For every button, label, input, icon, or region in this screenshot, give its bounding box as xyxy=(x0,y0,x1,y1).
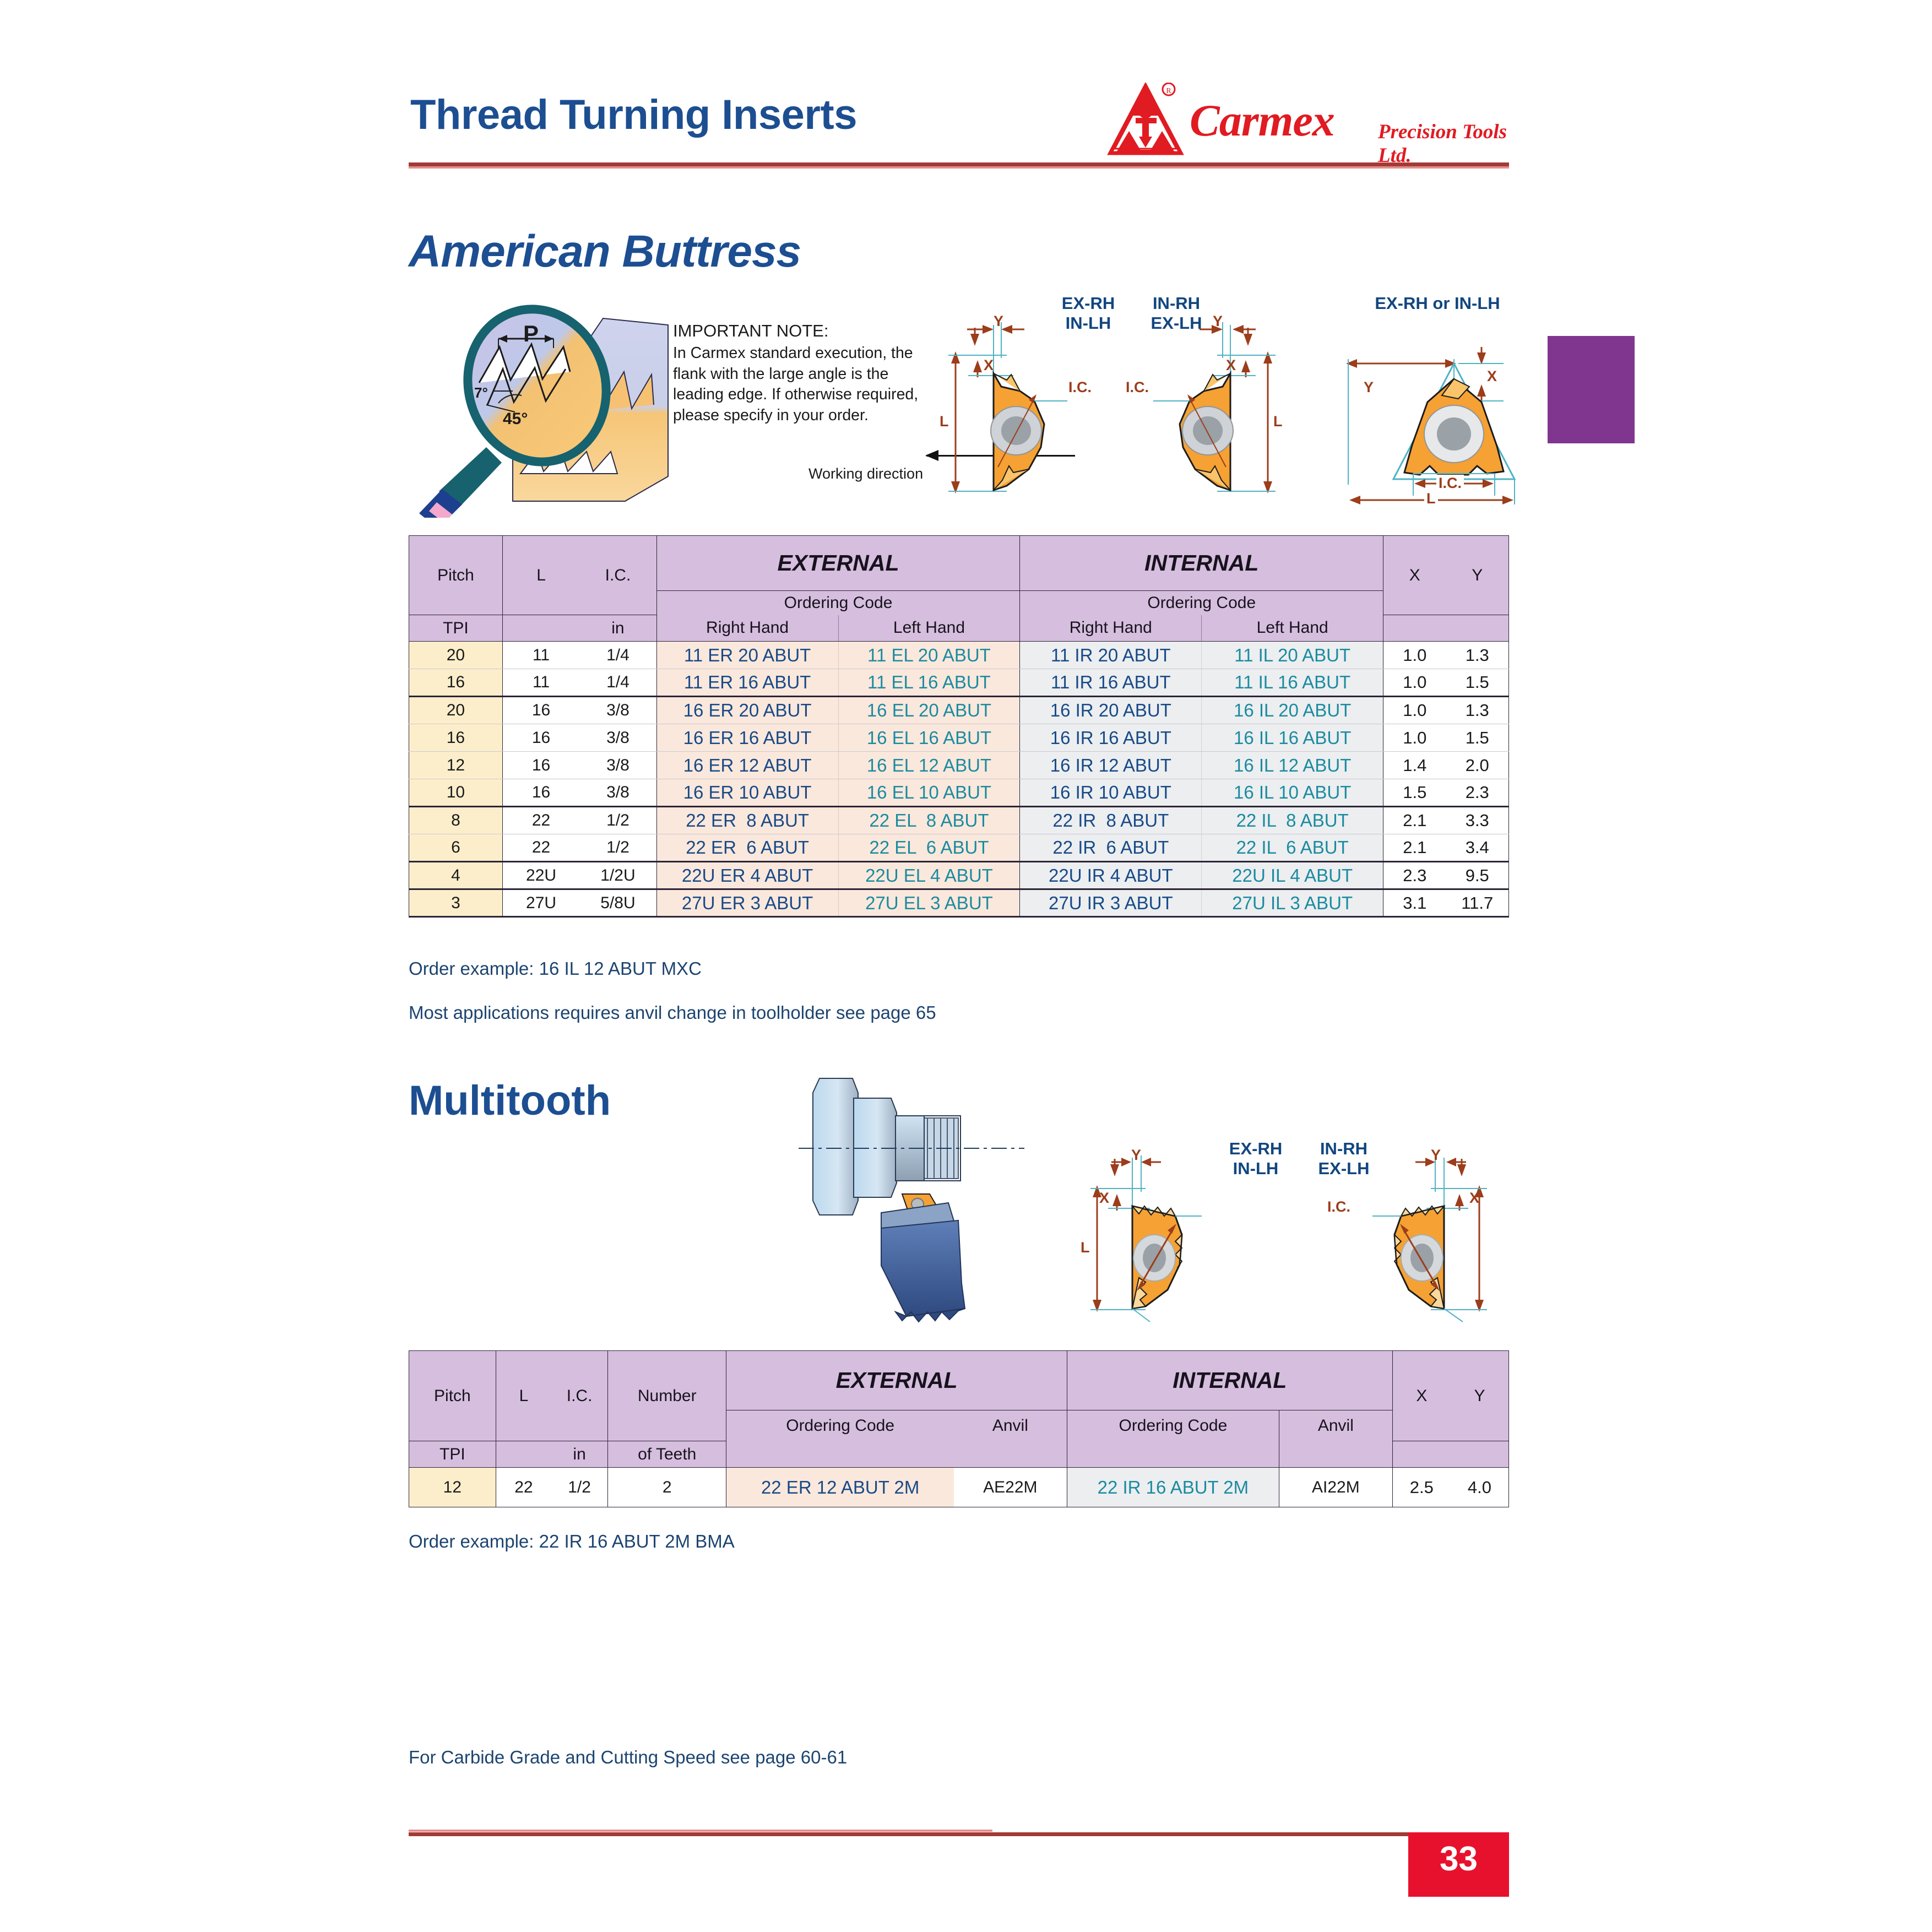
col-x-sub xyxy=(1383,615,1446,642)
dim-l-label: L xyxy=(1081,1239,1090,1256)
mt-col-l: L xyxy=(496,1351,551,1441)
cell-l: 22 xyxy=(496,1468,551,1507)
american-buttress-table: Pitch L I.C. EXTERNAL INTERNAL X xyxy=(409,535,1509,918)
multitooth-table: Pitch L I.C. Number EXTERNAL INTERNAL xyxy=(409,1350,1509,1507)
diagram-3-caption: EX-RH or IN-LH xyxy=(1349,294,1526,313)
carmex-logo: R Carmex Precision Tools Ltd. xyxy=(1107,83,1509,160)
cell-internal-left-hand: 27U IL 3 ABUT xyxy=(1202,889,1383,917)
cell-y: 3.3 xyxy=(1446,807,1509,834)
table-row: 16111/411 ER 16 ABUT11 EL 16 ABUT11 IR 1… xyxy=(409,669,1509,697)
mt-col-y: Y xyxy=(1451,1351,1509,1441)
cell-external-left-hand: 22 EL 8 ABUT xyxy=(838,807,1020,834)
dim-y-label: Y xyxy=(994,313,1003,330)
dim-l-label: L xyxy=(940,413,949,430)
dim-ic-label: I.C. xyxy=(1327,1198,1350,1215)
cell-pitch: 10 xyxy=(409,779,503,807)
cell-internal-right-hand: 22 IR 8 ABUT xyxy=(1020,807,1202,834)
mt-group-header-internal: INTERNAL xyxy=(1067,1351,1392,1410)
mt-col-pitch-tpi: Pitch xyxy=(409,1351,496,1441)
col-pitch-tpi: Pitch xyxy=(409,536,503,615)
table-row: 10163/816 ER 10 ABUT16 EL 10 ABUT16 IR 1… xyxy=(409,779,1509,807)
insert-diagram-in-rh-ex-lh: Y X L I.C. xyxy=(1118,308,1289,512)
mt-col-x-sub xyxy=(1392,1441,1451,1468)
mt-col-ext-code: Ordering Code xyxy=(726,1410,954,1441)
dim-ic-label: I.C. xyxy=(1068,379,1092,396)
cell-internal-left-hand: 16 IL 10 ABUT xyxy=(1202,779,1383,807)
dim-x-label: X xyxy=(1469,1190,1479,1207)
dim-x-label: X xyxy=(1099,1190,1109,1207)
cell-external-right-hand: 22 ER 6 ABUT xyxy=(656,834,838,862)
mt-col-l-sub xyxy=(496,1441,551,1468)
cell-pitch: 20 xyxy=(409,697,503,724)
cell-l: 16 xyxy=(502,724,579,752)
diagram-2-caption: IN-RH EX-LH xyxy=(1127,294,1226,333)
cell-y: 11.7 xyxy=(1446,889,1509,917)
cell-y: 1.3 xyxy=(1446,642,1509,669)
cell-external-left-hand: 22U EL 4 ABUT xyxy=(838,862,1020,889)
table-row: 20163/816 ER 20 ABUT16 EL 20 ABUT16 IR 2… xyxy=(409,697,1509,724)
table-row: 327U5/8U27U ER 3 ABUT27U EL 3 ABUT27U IR… xyxy=(409,889,1509,917)
cell-ic: 1/2 xyxy=(579,834,656,862)
cell-l: 22 xyxy=(502,834,579,862)
dim-ic-label: I.C. xyxy=(1126,379,1149,396)
mt-int-code-sub xyxy=(1067,1441,1279,1468)
col-ext-left-hand: Left Hand xyxy=(838,615,1020,642)
cell-external-left-hand: 11 EL 20 ABUT xyxy=(838,642,1020,669)
dim-x-label: X xyxy=(984,357,994,374)
table-row: 6221/222 ER 6 ABUT22 EL 6 ABUT22 IR 6 AB… xyxy=(409,834,1509,862)
cell-internal-anvil: AI22M xyxy=(1279,1468,1392,1507)
dim-y-label: Y xyxy=(1364,379,1374,396)
cell-pitch: 6 xyxy=(409,834,503,862)
cell-internal-right-hand: 11 IR 16 ABUT xyxy=(1020,669,1202,697)
svg-text:R: R xyxy=(1166,87,1171,95)
cell-x: 1.0 xyxy=(1383,642,1446,669)
cell-external-right-hand: 11 ER 16 ABUT xyxy=(656,669,838,697)
cell-x: 2.5 xyxy=(1392,1468,1451,1507)
section-color-tab xyxy=(1548,336,1635,443)
mt-col-ext-anvil: Anvil xyxy=(954,1410,1067,1441)
cell-external-right-hand: 22 ER 8 ABUT xyxy=(656,807,838,834)
cell-y: 1.5 xyxy=(1446,724,1509,752)
col-ext-right-hand: Right Hand xyxy=(656,615,838,642)
col-l: L xyxy=(502,536,579,615)
table-row: 20111/411 ER 20 ABUT11 EL 20 ABUT11 IR 2… xyxy=(409,642,1509,669)
cell-internal-left-hand: 22 IL 6 ABUT xyxy=(1202,834,1383,862)
cell-y: 2.0 xyxy=(1446,752,1509,779)
mt-col-ic-sub: in xyxy=(551,1441,607,1468)
cell-internal-left-hand: 16 IL 20 ABUT xyxy=(1202,697,1383,724)
mt-col-int-anvil: Anvil xyxy=(1279,1410,1392,1441)
cell-l: 16 xyxy=(502,752,579,779)
cell-internal-right-hand: 16 IR 12 ABUT xyxy=(1020,752,1202,779)
logo-wordmark: Carmex xyxy=(1190,95,1334,146)
table-row: 12221/2222 ER 12 ABUT 2MAE22M22 IR 16 AB… xyxy=(409,1468,1509,1507)
cell-external-left-hand: 16 EL 16 ABUT xyxy=(838,724,1020,752)
col-int-left-hand: Left Hand xyxy=(1202,615,1383,642)
insert-diagram-ex-rh-or-in-lh: Y X I.C. L xyxy=(1322,308,1526,512)
dim-ic-label: I.C. xyxy=(1436,475,1464,492)
cell-ic: 1/4 xyxy=(579,669,656,697)
cell-external-anvil: AE22M xyxy=(954,1468,1067,1507)
cell-external-right-hand: 11 ER 20 ABUT xyxy=(656,642,838,669)
header-rule-dark xyxy=(409,162,1509,166)
dim-y-label: Y xyxy=(1431,1147,1441,1164)
header-rule-light xyxy=(409,166,1509,169)
cell-internal-right-hand: 16 IR 10 ABUT xyxy=(1020,779,1202,807)
cell-internal-right-hand: 27U IR 3 ABUT xyxy=(1020,889,1202,917)
page-title: Thread Turning Inserts xyxy=(410,91,857,139)
cell-pitch: 8 xyxy=(409,807,503,834)
cell-internal-right-hand: 11 IR 20 ABUT xyxy=(1020,642,1202,669)
cell-x: 1.0 xyxy=(1383,669,1446,697)
cell-internal-right-hand: 16 IR 16 ABUT xyxy=(1020,724,1202,752)
cell-ic: 3/8 xyxy=(579,697,656,724)
cell-external-right-hand: 16 ER 16 ABUT xyxy=(656,724,838,752)
small-angle-label: 7° xyxy=(474,384,488,401)
cell-l: 16 xyxy=(502,697,579,724)
cell-y: 1.5 xyxy=(1446,669,1509,697)
cell-ic: 1/2U xyxy=(579,862,656,889)
carmex-triangle-icon: R xyxy=(1107,83,1184,157)
dim-x-label: X xyxy=(1487,368,1497,385)
table-row: 422U1/2U22U ER 4 ABUT22U EL 4 ABUT22U IR… xyxy=(409,862,1509,889)
mt-col-pitch-tpi-sub: TPI xyxy=(409,1441,496,1468)
cell-internal-code: 22 IR 16 ABUT 2M xyxy=(1067,1468,1279,1507)
mt-col-y-sub xyxy=(1451,1441,1509,1468)
cell-l: 27U xyxy=(502,889,579,917)
cell-x: 1.0 xyxy=(1383,697,1446,724)
table-row: 16163/816 ER 16 ABUT16 EL 16 ABUT16 IR 1… xyxy=(409,724,1509,752)
mt-ext-anvil-sub xyxy=(954,1441,1067,1468)
buttress-order-example: Order example: 16 IL 12 ABUT MXC xyxy=(409,958,702,979)
cell-y: 2.3 xyxy=(1446,779,1509,807)
cell-x: 2.3 xyxy=(1383,862,1446,889)
cell-external-right-hand: 16 ER 20 ABUT xyxy=(656,697,838,724)
cell-ic: 3/8 xyxy=(579,779,656,807)
cell-external-right-hand: 22U ER 4 ABUT xyxy=(656,862,838,889)
important-note: IMPORTANT NOTE: In Carmex standard execu… xyxy=(673,321,932,426)
cell-external-right-hand: 27U ER 3 ABUT xyxy=(656,889,838,917)
section-title-multitooth: Multitooth xyxy=(409,1077,611,1125)
cell-external-left-hand: 27U EL 3 ABUT xyxy=(838,889,1020,917)
cell-ic: 1/2 xyxy=(579,807,656,834)
cell-internal-left-hand: 11 IL 16 ABUT xyxy=(1202,669,1383,697)
dim-l-label: L xyxy=(1273,413,1283,430)
cell-internal-right-hand: 16 IR 20 ABUT xyxy=(1020,697,1202,724)
cell-ic: 3/8 xyxy=(579,724,656,752)
cell-internal-right-hand: 22U IR 4 ABUT xyxy=(1020,862,1202,889)
page-number: 33 xyxy=(1408,1839,1509,1879)
col-int-right-hand: Right Hand xyxy=(1020,615,1202,642)
mt-col-teeth: Number xyxy=(608,1351,726,1441)
cell-external-left-hand: 16 EL 20 ABUT xyxy=(838,697,1020,724)
cell-x: 2.1 xyxy=(1383,834,1446,862)
cell-x: 1.5 xyxy=(1383,779,1446,807)
external-ordering-code-label: Ordering Code xyxy=(656,591,1020,615)
logo-tagline: Precision Tools Ltd. xyxy=(1378,120,1509,167)
internal-ordering-code-label: Ordering Code xyxy=(1020,591,1383,615)
cell-l: 11 xyxy=(502,669,579,697)
cell-pitch: 3 xyxy=(409,889,503,917)
multitooth-toolholder-illustration xyxy=(793,1063,1079,1349)
table-row: 8221/222 ER 8 ABUT22 EL 8 ABUT22 IR 8 AB… xyxy=(409,807,1509,834)
col-y: Y xyxy=(1446,536,1509,615)
catalog-page: Thread Turning Inserts R Carmex Precisio… xyxy=(0,0,1932,1932)
cell-external-code: 22 ER 12 ABUT 2M xyxy=(726,1468,954,1507)
cell-external-right-hand: 16 ER 10 ABUT xyxy=(656,779,838,807)
carbide-grade-note: For Carbide Grade and Cutting Speed see … xyxy=(409,1747,847,1768)
cell-internal-left-hand: 16 IL 12 ABUT xyxy=(1202,752,1383,779)
cell-ic: 3/8 xyxy=(579,752,656,779)
table-row: 12163/816 ER 12 ABUT16 EL 12 ABUT16 IR 1… xyxy=(409,752,1509,779)
cell-l: 11 xyxy=(502,642,579,669)
cell-ic: 5/8U xyxy=(579,889,656,917)
dim-x-label: X xyxy=(1226,357,1236,374)
cell-external-left-hand: 16 EL 12 ABUT xyxy=(838,752,1020,779)
section-title-american-buttress: American Buttress xyxy=(409,226,801,278)
mt-group-header-external: EXTERNAL xyxy=(726,1351,1067,1410)
col-l-sub xyxy=(502,615,579,642)
working-direction-label: Working direction xyxy=(808,465,923,482)
mt-col-teeth-sub: of Teeth xyxy=(608,1441,726,1468)
cell-ic: 1/4 xyxy=(579,642,656,669)
important-note-body: In Carmex standard execution, the flank … xyxy=(673,343,932,426)
dim-l-label: L xyxy=(1424,490,1438,507)
multitooth-order-example: Order example: 22 IR 16 ABUT 2M BMA xyxy=(409,1531,735,1552)
cell-x: 1.0 xyxy=(1383,724,1446,752)
col-pitch-tpi-sub: TPI xyxy=(409,615,503,642)
large-angle-label: 45° xyxy=(503,410,528,428)
buttress-anvil-note: Most applications requires anvil change … xyxy=(409,1002,936,1023)
multitooth-diagram-2-caption: IN-RH EX-LH xyxy=(1294,1139,1393,1179)
cell-y: 4.0 xyxy=(1451,1468,1509,1507)
cell-internal-right-hand: 22 IR 6 ABUT xyxy=(1020,834,1202,862)
pitch-dimension-label: P xyxy=(523,321,539,347)
cell-l: 22U xyxy=(502,862,579,889)
dim-y-label: Y xyxy=(1131,1147,1141,1164)
cell-x: 2.1 xyxy=(1383,807,1446,834)
thread-profile-illustration: P 7° 45° xyxy=(405,286,680,518)
mt-col-x: X xyxy=(1392,1351,1451,1441)
mt-int-anvil-sub xyxy=(1279,1441,1392,1468)
col-ic: I.C. xyxy=(579,536,656,615)
group-header-internal: INTERNAL xyxy=(1020,536,1383,591)
cell-internal-left-hand: 16 IL 16 ABUT xyxy=(1202,724,1383,752)
cell-y: 3.4 xyxy=(1446,834,1509,862)
important-note-heading: IMPORTANT NOTE: xyxy=(673,321,932,341)
cell-pitch: 4 xyxy=(409,862,503,889)
cell-pitch: 12 xyxy=(409,752,503,779)
cell-ic: 1/2 xyxy=(551,1468,607,1507)
mt-col-ic: I.C. xyxy=(551,1351,607,1441)
col-ic-sub: in xyxy=(579,615,656,642)
cell-internal-left-hand: 22 IL 8 ABUT xyxy=(1202,807,1383,834)
mt-col-int-code: Ordering Code xyxy=(1067,1410,1279,1441)
cell-pitch: 20 xyxy=(409,642,503,669)
cell-x: 1.4 xyxy=(1383,752,1446,779)
cell-pitch: 12 xyxy=(409,1468,496,1507)
cell-external-right-hand: 16 ER 12 ABUT xyxy=(656,752,838,779)
cell-teeth: 2 xyxy=(608,1468,726,1507)
multitooth-diagram-1-caption: EX-RH IN-LH xyxy=(1206,1139,1305,1179)
insert-diagram-ex-rh-in-lh: Y X L I.C. xyxy=(936,308,1096,512)
footer-rule-light xyxy=(409,1830,992,1832)
cell-y: 9.5 xyxy=(1446,862,1509,889)
cell-external-left-hand: 16 EL 10 ABUT xyxy=(838,779,1020,807)
group-header-external: EXTERNAL xyxy=(656,536,1020,591)
col-y-sub xyxy=(1446,615,1509,642)
cell-l: 16 xyxy=(502,779,579,807)
col-x: X xyxy=(1383,536,1446,615)
cell-x: 3.1 xyxy=(1383,889,1446,917)
cell-external-left-hand: 22 EL 6 ABUT xyxy=(838,834,1020,862)
cell-external-left-hand: 11 EL 16 ABUT xyxy=(838,669,1020,697)
mt-ext-code-sub xyxy=(726,1441,954,1468)
cell-internal-left-hand: 22U IL 4 ABUT xyxy=(1202,862,1383,889)
cell-y: 1.3 xyxy=(1446,697,1509,724)
cell-pitch: 16 xyxy=(409,724,503,752)
cell-pitch: 16 xyxy=(409,669,503,697)
footer-rule-dark xyxy=(409,1832,1509,1836)
cell-l: 22 xyxy=(502,807,579,834)
cell-internal-left-hand: 11 IL 20 ABUT xyxy=(1202,642,1383,669)
